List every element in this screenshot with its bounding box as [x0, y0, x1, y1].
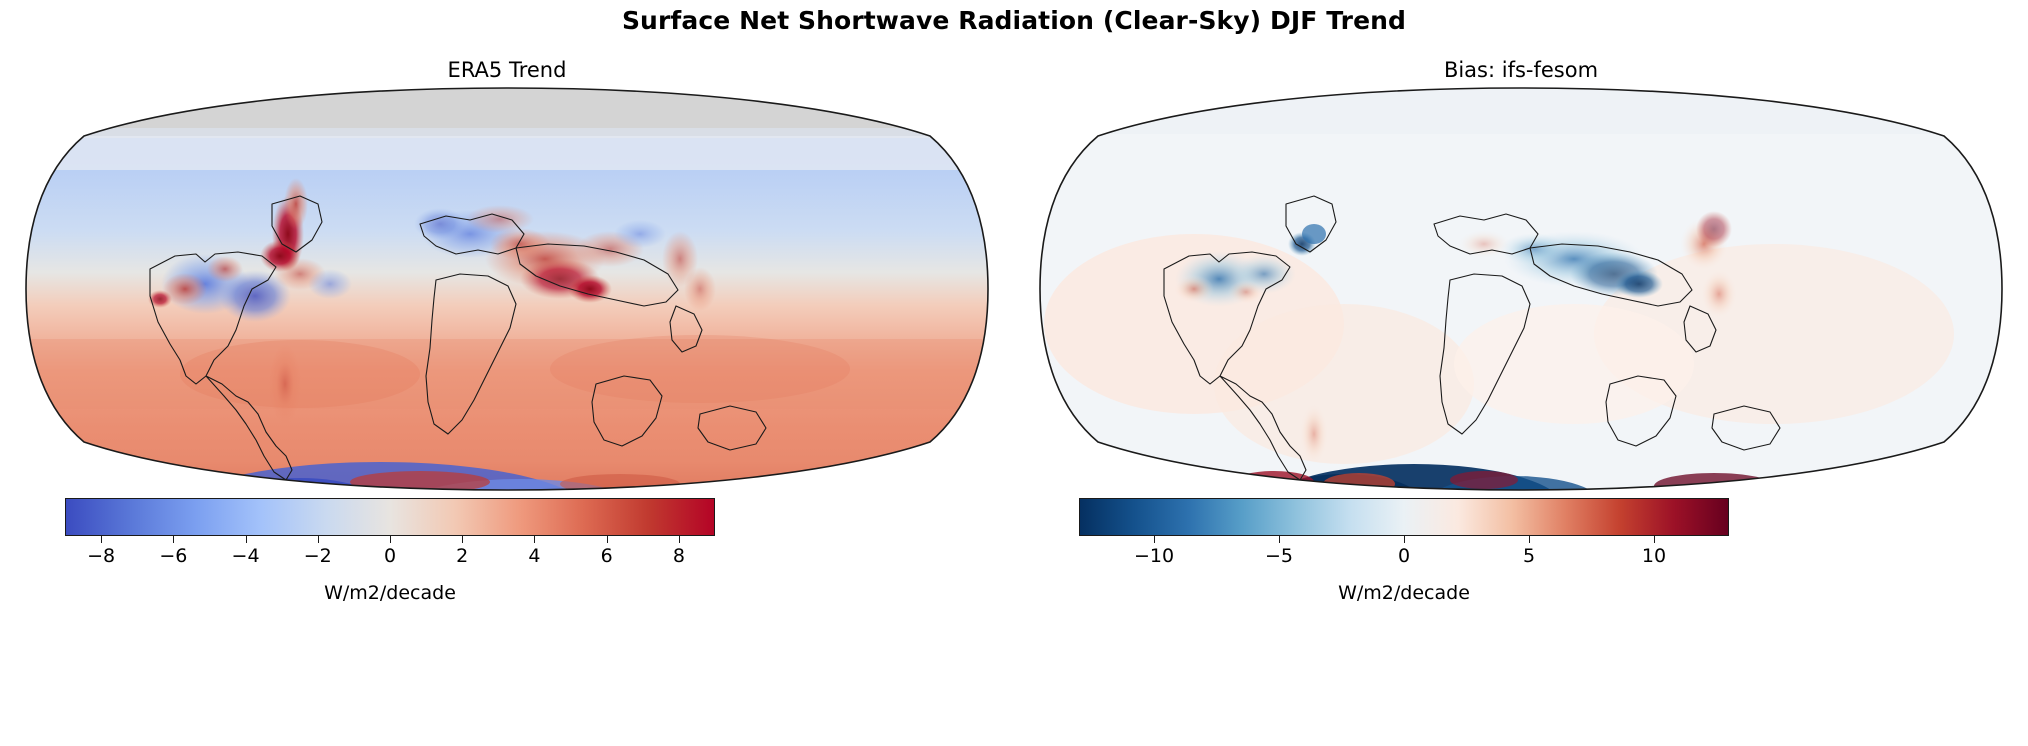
- colorbar-bias-ifs-fesom: −10−50510 W/m2/decade: [1014, 498, 2028, 628]
- colorbar-tick-left: [607, 536, 608, 543]
- panel-era5-trend: ERA5 Trend: [0, 58, 1014, 658]
- figure-root: Surface Net Shortwave Radiation (Clear-S…: [0, 0, 2028, 746]
- map-bias-ifs-fesom: [1014, 84, 2028, 494]
- colorbar-ticks-right: −10−50510: [1079, 536, 1729, 580]
- colorbar-tick-left: [246, 536, 247, 543]
- colorbar-tick-label-left: −2: [283, 545, 353, 567]
- colorbar-tick-left: [390, 536, 391, 543]
- colorbar-tick-label-left: 8: [644, 545, 714, 567]
- colorbar-ticks-left: −8−6−4−202468: [65, 536, 715, 580]
- colorbar-tick-label-left: −6: [138, 545, 208, 567]
- colorbar-tick-right: [1529, 536, 1530, 543]
- colorbar-tick-right: [1404, 536, 1405, 543]
- colorbar-tick-left: [318, 536, 319, 543]
- colorbar-tick-label-left: 2: [427, 545, 497, 567]
- colorbar-tick-label-right: 10: [1619, 545, 1689, 567]
- colorbar-tick-label-right: −5: [1244, 545, 1314, 567]
- map-svg-left: [0, 84, 1014, 494]
- colorbar-tick-left: [101, 536, 102, 543]
- panel-bias-ifs-fesom: Bias: ifs-fesom: [1014, 58, 2028, 658]
- colorbar-tick-right: [1154, 536, 1155, 543]
- colorbar-tick-right: [1279, 536, 1280, 543]
- colorbar-tick-label-left: 4: [499, 545, 569, 567]
- colorbar-tick-left: [462, 536, 463, 543]
- colorbar-era5-trend: −8−6−4−202468 W/m2/decade: [0, 498, 1014, 628]
- colorbar-tick-label-left: 0: [355, 545, 425, 567]
- panel-title-right: Bias: ifs-fesom: [1014, 58, 2028, 82]
- colorbar-tick-label-left: 6: [572, 545, 642, 567]
- colorbar-tick-left: [679, 536, 680, 543]
- colorbar-label-left: W/m2/decade: [65, 582, 715, 604]
- colorbar-gradient-right: [1079, 498, 1729, 536]
- colorbar-tick-left: [173, 536, 174, 543]
- colorbar-tick-label-right: −10: [1119, 545, 1189, 567]
- figure-title: Surface Net Shortwave Radiation (Clear-S…: [0, 6, 2028, 35]
- colorbar-tick-left: [534, 536, 535, 543]
- colorbar-label-right: W/m2/decade: [1079, 582, 1729, 604]
- colorbar-tick-label-right: 5: [1494, 545, 1564, 567]
- colorbar-tick-label-left: −8: [66, 545, 136, 567]
- colorbar-gradient-left: [65, 498, 715, 536]
- map-era5-trend: [0, 84, 1014, 494]
- colorbar-tick-right: [1654, 536, 1655, 543]
- colorbar-tick-label-right: 0: [1369, 545, 1439, 567]
- panel-title-left: ERA5 Trend: [0, 58, 1014, 82]
- map-svg-right: [1014, 84, 2028, 494]
- colorbar-tick-label-left: −4: [211, 545, 281, 567]
